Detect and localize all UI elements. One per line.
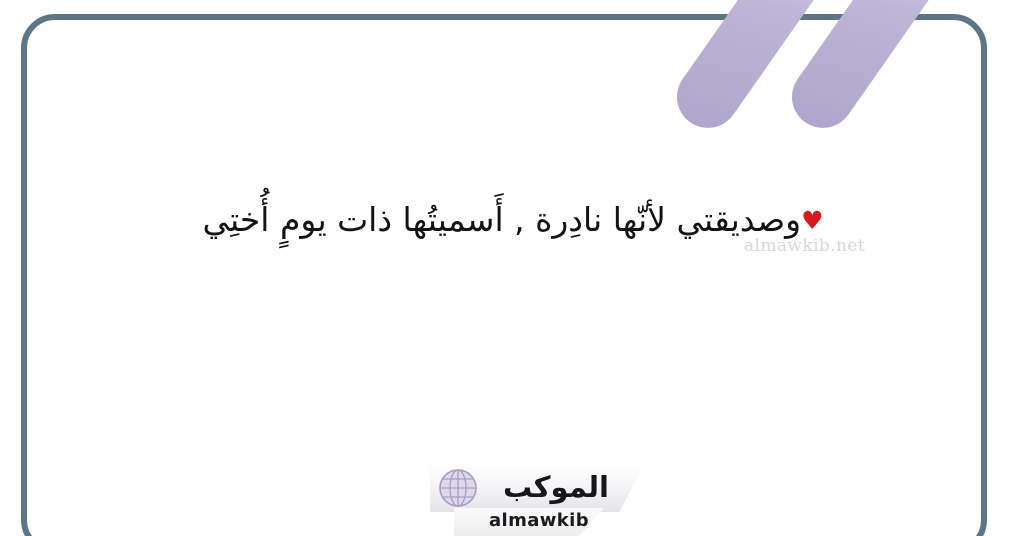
quote-body: وصديقتي لأنّها نادِرة , أَسميتُها ذات يو… <box>202 200 801 239</box>
watermark-text: almawkib.net <box>744 236 865 256</box>
logo-arabic-name: الموكب <box>486 466 626 508</box>
quote-container: ♥وصديقتي لأنّها نادِرة , أَسميتُها ذات ي… <box>0 0 1024 440</box>
globe-icon <box>438 468 478 508</box>
quote-text: ♥وصديقتي لأنّها نادِرة , أَسميتُها ذات ي… <box>202 195 821 245</box>
quote-card: ♥وصديقتي لأنّها نادِرة , أَسميتُها ذات ي… <box>0 0 1024 536</box>
site-logo: الموكب almawkib <box>424 462 654 536</box>
heart-icon: ♥ <box>801 206 823 235</box>
logo-latin-name: almawkib <box>464 510 614 531</box>
